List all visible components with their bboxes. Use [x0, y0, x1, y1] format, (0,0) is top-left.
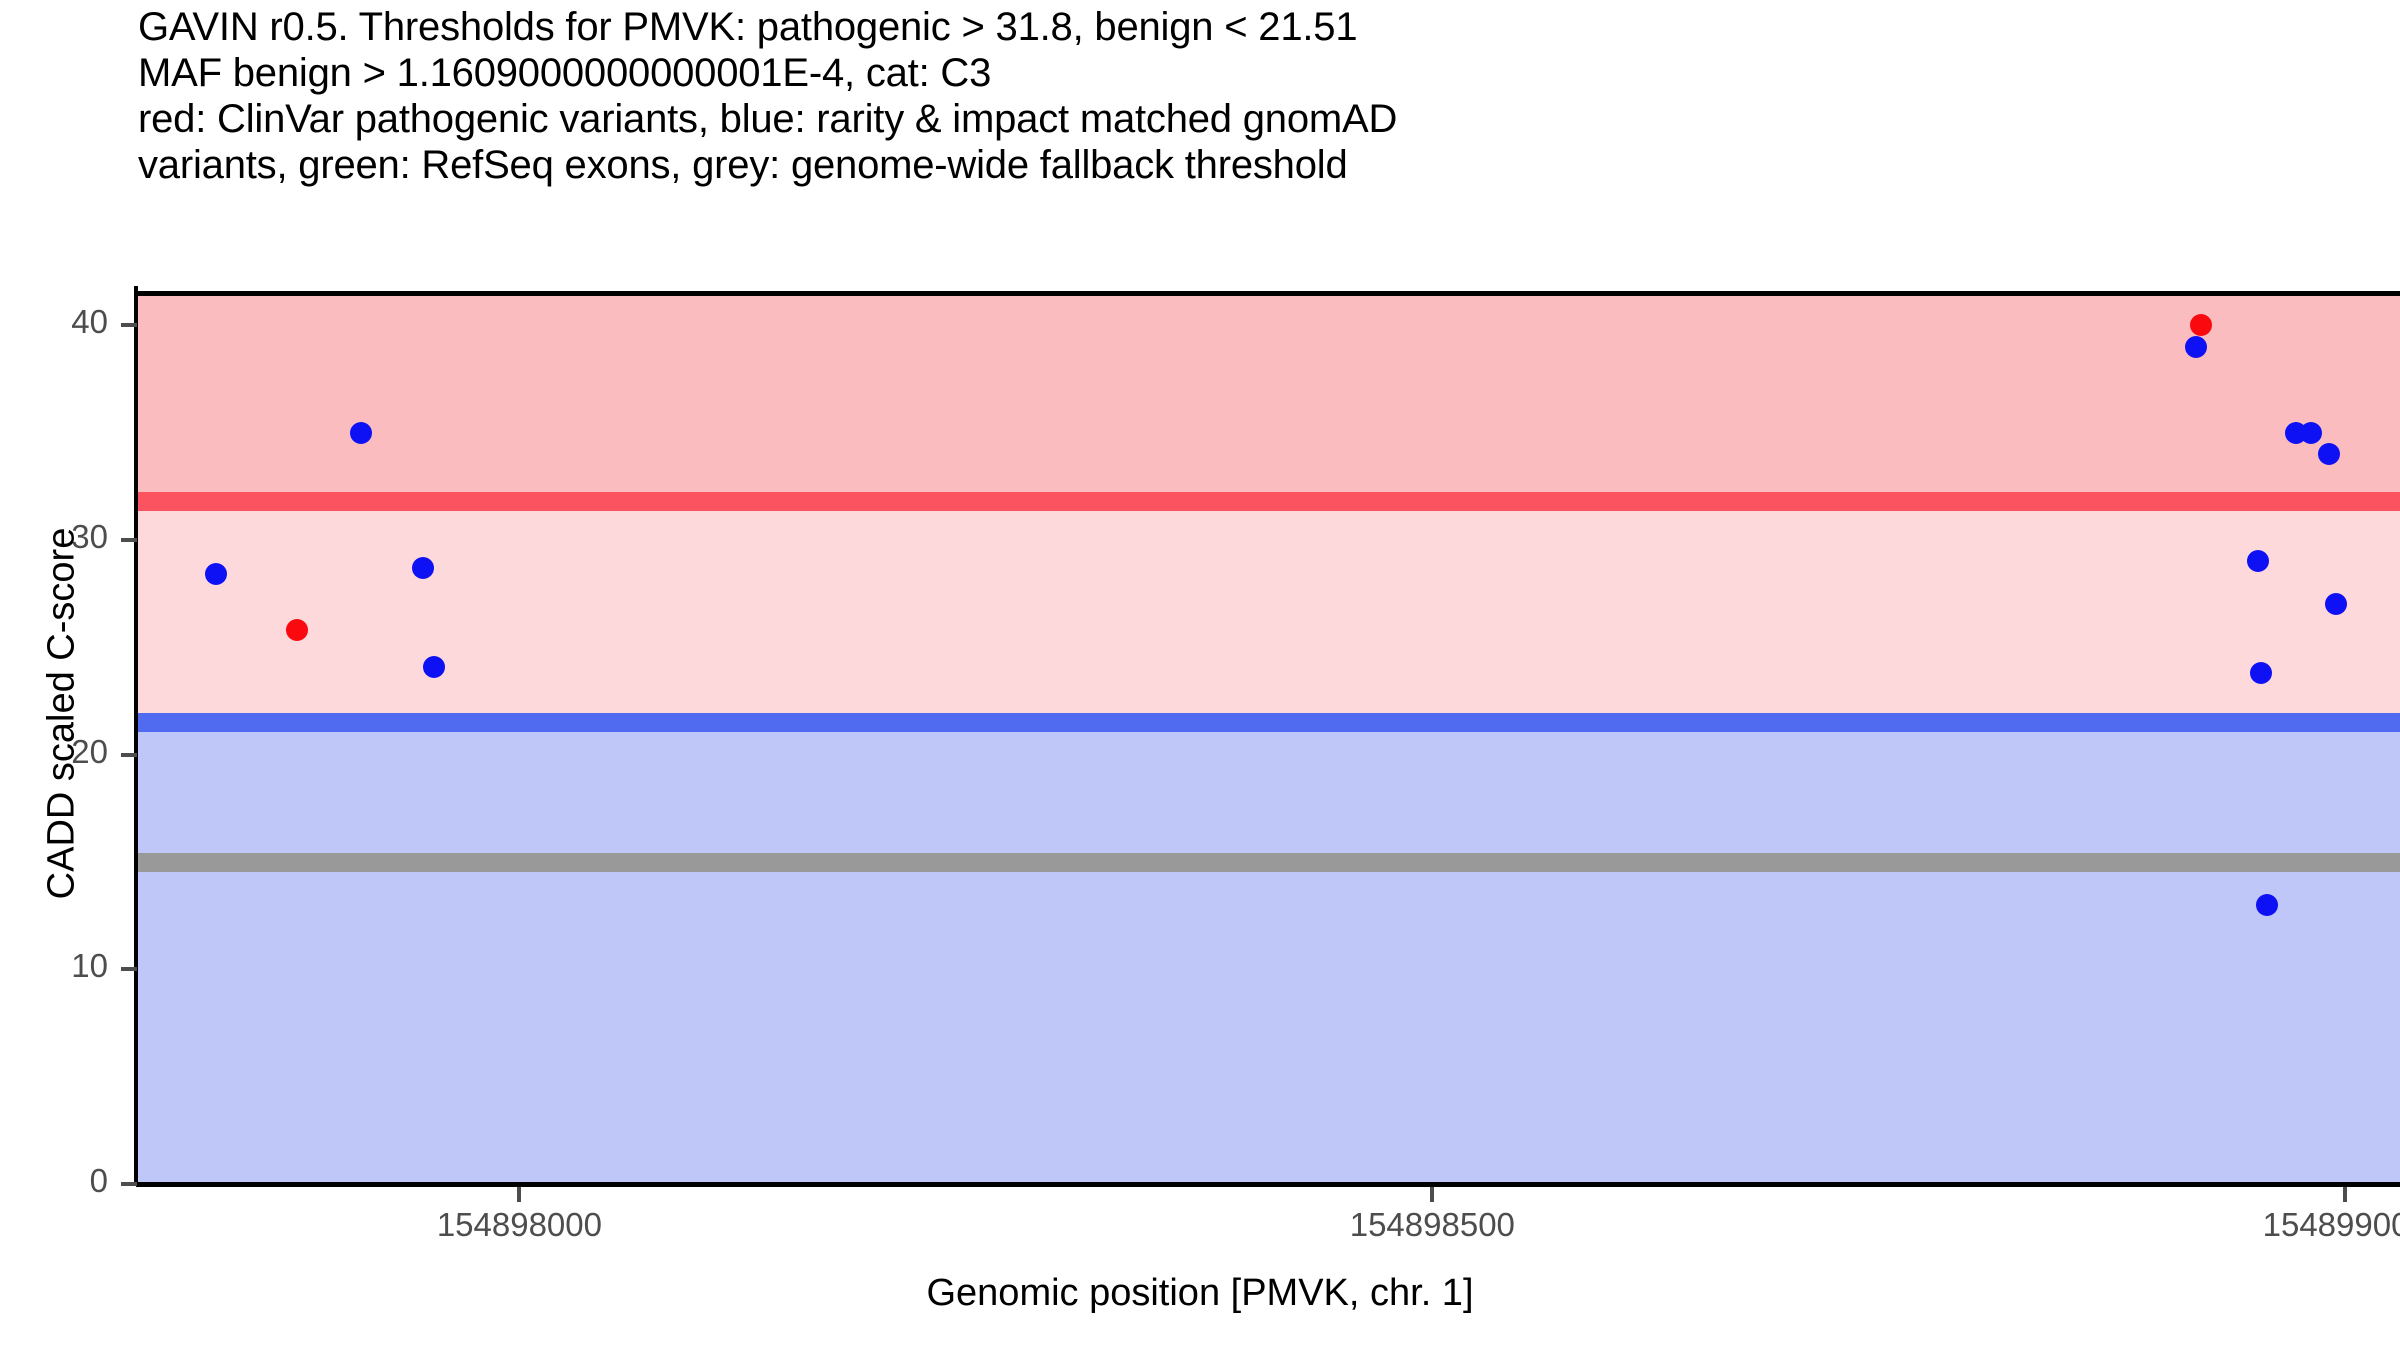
gnomad-variant-point [412, 557, 434, 579]
x-axis-title: Genomic position [PMVK, chr. 1] [0, 1272, 2400, 1315]
gnomad-variant-point [2247, 550, 2269, 572]
gnomad-variant-point [205, 563, 227, 585]
plot-data-area [136, 291, 2400, 1184]
x-tick-mark [1430, 1187, 1434, 1202]
title-line-1: GAVIN r0.5. Thresholds for PMVK: pathoge… [138, 4, 2338, 50]
y-tick-mark [121, 538, 137, 542]
pathogenic-zone [136, 291, 2400, 501]
x-tick-label: 154898500 [1350, 1206, 1515, 1244]
y-tick-mark [121, 753, 137, 757]
benign-threshold-line [136, 713, 2400, 732]
gnomad-variant-point [350, 422, 372, 444]
gnomad-variant-point [423, 656, 445, 678]
y-tick-mark [121, 967, 137, 971]
y-tick-mark [121, 323, 137, 327]
clinvar-pathogenic-point [286, 619, 308, 641]
y-tick-mark [121, 1182, 137, 1186]
vous-zone [136, 501, 2400, 722]
x-tick-mark [517, 1187, 521, 1202]
pathogenic-threshold-line [136, 492, 2400, 511]
panel-top-border [136, 291, 2400, 296]
plot-panel [136, 291, 2400, 1184]
gnomad-variant-point [2318, 443, 2340, 465]
clinvar-pathogenic-point [2190, 314, 2212, 336]
benign-zone [136, 722, 2400, 1184]
title-line-3: red: ClinVar pathogenic variants, blue: … [138, 96, 2338, 142]
y-tick-label: 0 [0, 1162, 108, 1200]
title-line-4: variants, green: RefSeq exons, grey: gen… [138, 142, 2338, 188]
x-tick-mark [2343, 1187, 2347, 1202]
plot-title: GAVIN r0.5. Thresholds for PMVK: pathoge… [138, 4, 2338, 188]
y-axis-title: CADD scaled C-score [41, 364, 84, 1064]
genome-wide-fallback-line [136, 853, 2400, 872]
gnomad-variant-point [2250, 662, 2272, 684]
y-tick-label: 40 [0, 303, 108, 341]
title-line-2: MAF benign > 1.1609000000000001E-4, cat:… [138, 50, 2338, 96]
x-axis-line [136, 1182, 2400, 1187]
gnomad-variant-point [2300, 422, 2322, 444]
y-axis-line [134, 286, 138, 1184]
gnomad-variant-point [2256, 894, 2278, 916]
gnomad-variant-point [2325, 593, 2347, 615]
x-tick-label: 154898000 [437, 1206, 602, 1244]
x-tick-label: 154899000 [2263, 1206, 2400, 1244]
gnomad-variant-point [2185, 336, 2207, 358]
